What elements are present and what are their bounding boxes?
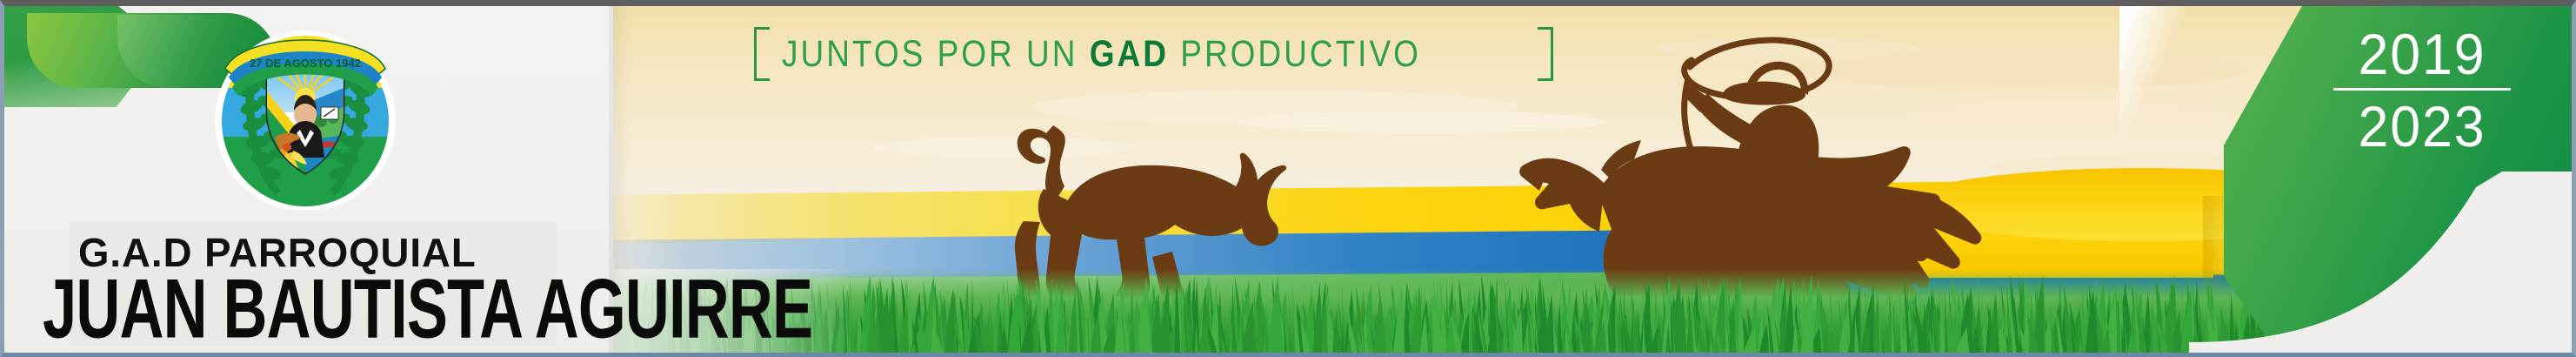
banner-stage: 27 DE AGOSTO 1942 G.A.D PARROQUIAL JUAN … [4, 6, 2572, 353]
coat-of-arms: 27 DE AGOSTO 1942 [203, 17, 408, 210]
tagline-suffix: PRODUCTIVO [1169, 33, 1421, 75]
period-years: 2019 2023 [2318, 22, 2526, 158]
bracket-left-icon [754, 27, 770, 81]
tagline-text: JUNTOS POR UN GAD PRODUCTIVO [782, 33, 1421, 76]
tagline-highlight: GAD [1090, 33, 1169, 75]
period-start-year: 2019 [2323, 22, 2521, 86]
period-end-year: 2023 [2323, 94, 2521, 158]
bracket-right-icon [1538, 27, 1553, 81]
crest-ribbon-text: 27 DE AGOSTO 1942 [250, 57, 361, 70]
tagline: JUNTOS POR UN GAD PRODUCTIVO [754, 25, 1553, 83]
gad-parroquial-banner: 27 DE AGOSTO 1942 G.A.D PARROQUIAL JUAN … [0, 0, 2576, 357]
period-divider [2333, 88, 2511, 91]
period-panel-white-diagonal [2119, 6, 2202, 313]
period-panel: 2019 2023 [2119, 6, 2572, 353]
org-title-line2: JUAN BAUTISTA AGUIRRE [43, 267, 599, 351]
tagline-prefix: JUNTOS POR UN [782, 33, 1090, 75]
